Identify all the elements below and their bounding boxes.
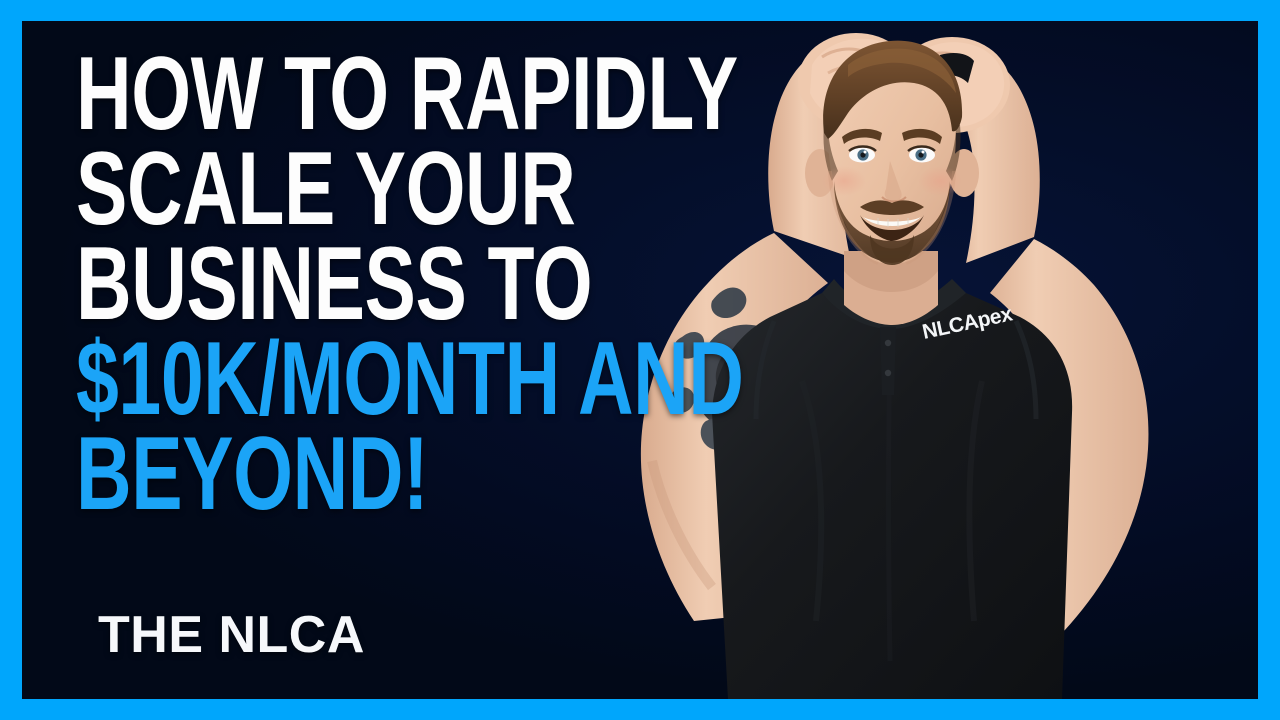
- brand-label: THE NLCA: [98, 609, 365, 661]
- shirt-button: [885, 370, 891, 376]
- headline-line-5: BEYOND!: [76, 427, 594, 522]
- headline-line-3: BUSINESS TO: [76, 237, 594, 332]
- headline-line-4: $10K/MONTH AND: [76, 332, 594, 427]
- headline-block: HOW TO RAPIDLY SCALE YOUR BUSINESS TO $1…: [76, 47, 776, 522]
- headline-line-2: SCALE YOUR: [76, 142, 594, 237]
- shirt-button: [885, 340, 891, 346]
- inner-background: NLCApex: [22, 21, 1258, 699]
- headline-line-1: HOW TO RAPIDLY: [76, 47, 594, 142]
- thumbnail-canvas: NLCApex: [0, 0, 1280, 720]
